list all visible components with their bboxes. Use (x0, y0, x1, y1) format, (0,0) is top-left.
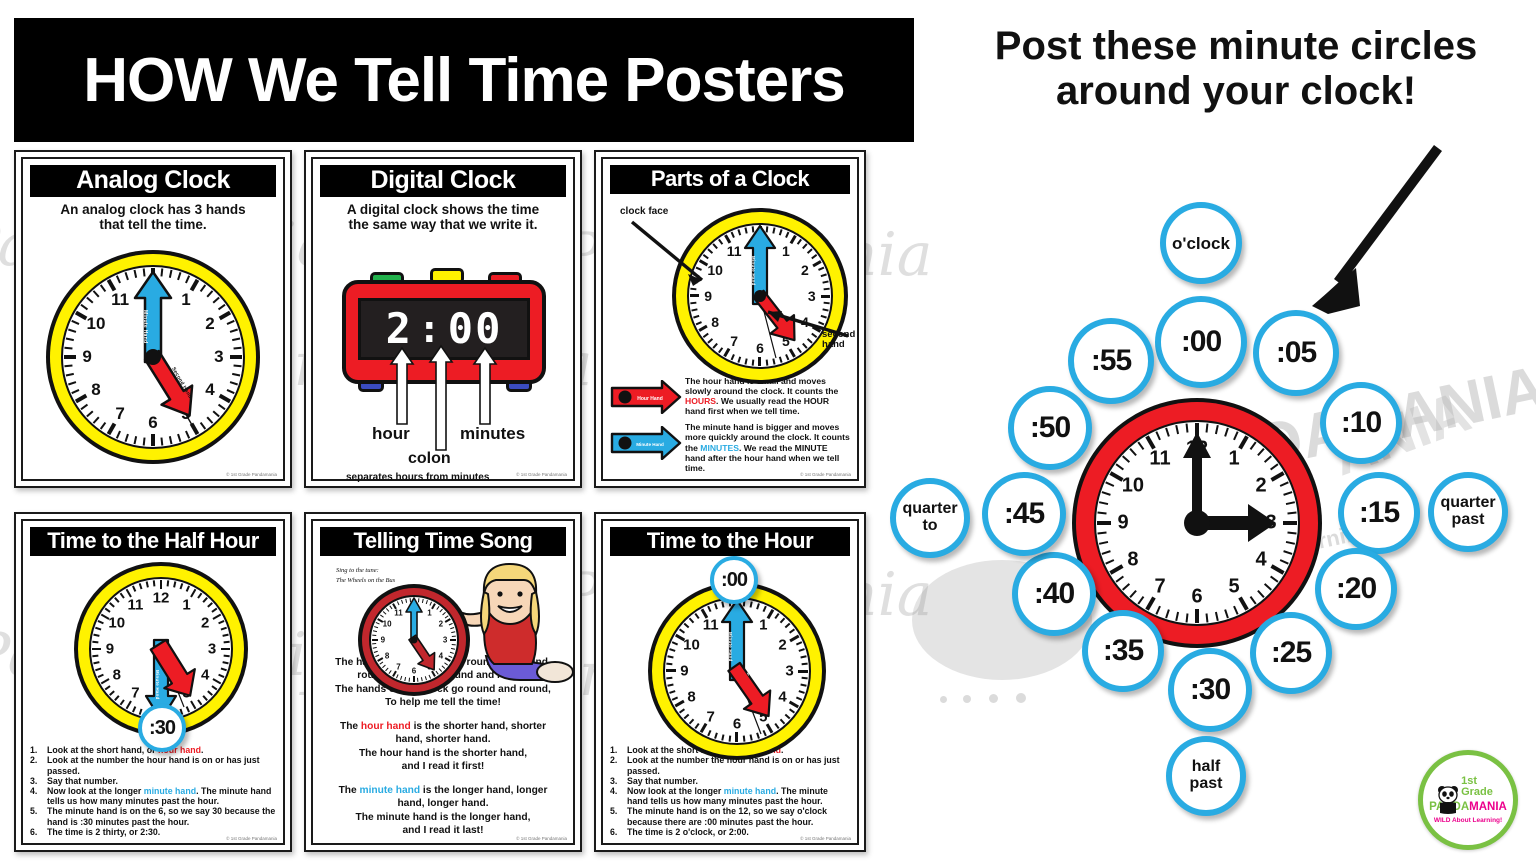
poster-time-to-the-half-hour[interactable]: Time to the Half Hour 121234567891011 (14, 512, 292, 852)
down-left-arrow-icon (1290, 130, 1460, 330)
minute-hand-label: Minute Hand (142, 310, 148, 343)
right-panel-heading: Post these minute circles around your cl… (946, 24, 1526, 114)
pointer-arrows (320, 232, 580, 452)
quarter-to-line2: to (922, 518, 937, 535)
poster-analog-clock[interactable]: Analog Clock An analog clock has 3 hands… (14, 150, 292, 488)
verse2-line4: and I read it first! (320, 760, 566, 773)
credit: © 1st Grade Pandamania (226, 472, 277, 477)
quarter-past-line1: quarter (1440, 495, 1495, 512)
minute-circle-05[interactable]: :05 (1253, 310, 1339, 396)
minute-circle-oclock[interactable]: o'clock (1160, 202, 1242, 284)
poster-subtitle: A digital clock shows the time the same … (320, 202, 566, 232)
step-number: 1. (30, 745, 42, 755)
step-text: Say that number. (627, 776, 698, 786)
subtitle-line2: that tell the time. (30, 217, 276, 232)
steps-list: 1.Look at the short hand, or hour hand.2… (30, 745, 276, 837)
analog-clock-face: 121234567891011 (46, 250, 260, 464)
step-highlight: minute hand (144, 786, 196, 796)
right-heading-line2: around your clock! (946, 69, 1526, 114)
label-minutes: minutes (460, 424, 525, 444)
credit: © 1st Grade Pandamania (800, 836, 851, 841)
poster-title: Time to the Half Hour (30, 527, 276, 556)
credit: © 1st Grade Pandamania (226, 836, 277, 841)
poster-title: Parts of a Clock (610, 165, 850, 194)
step-text: Now look at the longer minute hand. The … (627, 786, 850, 806)
poster-digital-clock[interactable]: Digital Clock A digital clock shows the … (304, 150, 582, 488)
minute-circle-00[interactable]: :00 (1155, 296, 1247, 388)
badge-hour: :00 (710, 556, 758, 604)
logo-line1b: Grade (1461, 786, 1493, 798)
poster-title: Telling Time Song (320, 527, 566, 556)
label-hour: hour (372, 424, 410, 444)
analog-clock-face: 121234567891011 Minute Hand Hour Hand (648, 582, 826, 760)
minute-circle-half-past[interactable]: half past (1166, 736, 1246, 816)
minute-circle-quarter-past[interactable]: quarter past (1428, 472, 1508, 552)
minute-circle-35[interactable]: :35 (1082, 610, 1164, 692)
minute-circle-45[interactable]: :45 (982, 472, 1066, 556)
panda-icon (1435, 785, 1461, 815)
hour-desc-highlight: HOURS (685, 396, 716, 406)
step-text: The time is 2 o'clock, or 2:00. (627, 827, 749, 837)
poster-time-to-the-hour[interactable]: Time to the Hour :00 121234567891011 (594, 512, 866, 852)
second-hand-label-line2: hand (822, 340, 855, 350)
step-item: 4.Now look at the longer minute hand. Th… (610, 786, 850, 806)
step-text: The time is 2 thirty, or 2:30. (47, 827, 160, 837)
verse3-line3: The minute hand is the longer hand, (320, 811, 566, 824)
minute-circle-15[interactable]: :15 (1338, 472, 1420, 554)
half-past-line2: past (1190, 776, 1223, 793)
minute-circle-40[interactable]: :40 (1012, 552, 1096, 636)
step-number: 1. (610, 745, 622, 755)
logo-tagline: WILD About Learning! (1434, 817, 1502, 824)
poster-subtitle: An analog clock has 3 hands that tell th… (30, 202, 276, 232)
quarter-past-line2: past (1452, 512, 1485, 529)
step-item: 5.The minute hand is on the 6, so we say… (30, 806, 276, 826)
minute-circle-20[interactable]: :20 (1315, 548, 1397, 630)
analog-clock-face: 121234567891011 (358, 584, 470, 696)
right-heading-line1: Post these minute circles (946, 24, 1526, 69)
verse3-post: is the longer hand, longer (420, 785, 547, 796)
verse3-line4: and I read it last! (320, 824, 566, 837)
step-text: The minute hand is on the 12, so we say … (627, 806, 850, 826)
step-item: 3.Say that number. (30, 776, 276, 786)
step-number: 6. (610, 827, 622, 837)
quarter-to-line1: quarter (902, 501, 957, 518)
demo-clock-face: 121234567891011 (1072, 398, 1322, 648)
verse2-post: is the shorter hand, shorter (411, 721, 546, 732)
hour-hand (648, 582, 826, 760)
clock-pivot (411, 637, 418, 644)
minute-circle-25[interactable]: :25 (1250, 612, 1332, 694)
label-clock-face: clock face (620, 206, 668, 217)
label-second-hand: second hand (822, 330, 855, 350)
svg-text:Hour Hand: Hour Hand (637, 396, 663, 402)
clock-pivot (145, 349, 161, 365)
logo-mania: MANIA (1469, 801, 1507, 813)
verse2-line2: hand, shorter hand. (320, 733, 566, 746)
minute-circle-quarter-to[interactable]: quarter to (890, 478, 970, 558)
minute-circle-55[interactable]: :55 (1068, 318, 1154, 404)
step-text: Look at the number the hour hand is on o… (47, 755, 276, 775)
minute-circle-30[interactable]: :30 (1168, 648, 1252, 732)
credit: © 1st Grade Pandamania (516, 472, 567, 477)
step-text: Now look at the longer minute hand. The … (47, 786, 276, 806)
clock-pivot (1184, 510, 1210, 536)
step-number: 3. (30, 776, 42, 786)
badge-half-hour: :30 (138, 704, 186, 752)
tune-note: Sing to the tune: The Wheels on the Bus (336, 566, 395, 586)
svg-text:Minute Hand: Minute Hand (636, 442, 664, 447)
poster-title: Digital Clock (320, 165, 566, 197)
step-text: Say that number. (47, 776, 118, 786)
verse3-pre: The (339, 785, 360, 796)
verse2-line3: The hour hand is the shorter hand, (320, 747, 566, 760)
page-title: HOW We Tell Time Posters (83, 45, 845, 116)
verse2-pre: The (340, 721, 361, 732)
step-number: 4. (30, 786, 42, 806)
subtitle-line2: the same way that we write it. (320, 217, 566, 232)
minute-hand-label: Minute Hand (155, 670, 160, 700)
step-number: 2. (610, 755, 622, 775)
minute-hand-description: The minute hand is bigger and moves more… (685, 422, 850, 473)
brand-logo: 1st Grade PANDAMANIA WILD About Learning… (1418, 750, 1518, 850)
verse1-line4: To help me tell the time! (320, 696, 566, 709)
minute-desc-highlight: MINUTES (700, 443, 739, 453)
annotation-lines (610, 194, 866, 390)
minute-hand-key-icon: Minute Hand (610, 426, 682, 460)
label-colon: colon (408, 450, 451, 468)
verse3-highlight: minute hand (360, 785, 421, 796)
verse3-line1: The minute hand is the longer hand, long… (320, 784, 566, 797)
poster-title: Time to the Hour (610, 527, 850, 556)
step-number: 3. (610, 776, 622, 786)
verse2-line1: The hour hand is the shorter hand, short… (320, 720, 566, 733)
minute-circle-50[interactable]: :50 (1008, 386, 1092, 470)
poster-parts-of-a-clock[interactable]: Parts of a Clock 121234567891011 (594, 150, 866, 488)
step-item: 2.Look at the number the hour hand is on… (30, 755, 276, 775)
watermark-dots (940, 690, 1060, 704)
tune-line1: Sing to the tune: (336, 566, 395, 576)
step-number: 5. (610, 806, 622, 826)
step-number: 2. (30, 755, 42, 775)
half-past-line1: half (1192, 759, 1220, 776)
minute-hand-label: Minute Hand (728, 632, 733, 662)
step-number: 6. (30, 827, 42, 837)
subtitle-line1: A digital clock shows the time (320, 202, 566, 217)
poster-telling-time-song[interactable]: Telling Time Song Sing to the tune: The … (304, 512, 582, 852)
step-number: 4. (610, 786, 622, 806)
colon-note: separates hours from minutes (346, 472, 489, 483)
credit: © 1st Grade Pandamania (516, 836, 567, 841)
poster-title: Analog Clock (30, 165, 276, 197)
minute-circle-10[interactable]: :10 (1320, 382, 1402, 464)
credit: © 1st Grade Pandamania (800, 472, 851, 477)
step-text: Look at the short hand, or hour hand. (47, 745, 203, 755)
step-item: 4.Now look at the longer minute hand. Th… (30, 786, 276, 806)
subtitle-line1: An analog clock has 3 hands (30, 202, 276, 217)
verse2-highlight: hour hand (361, 721, 411, 732)
step-item: 5.The minute hand is on the 12, so we sa… (610, 806, 850, 826)
page-title-banner: HOW We Tell Time Posters (14, 18, 914, 142)
verse3-line2: hand, longer hand. (320, 797, 566, 810)
step-item: 3.Say that number. (610, 776, 850, 786)
step-text: The minute hand is on the 6, so we say 3… (47, 806, 276, 826)
step-number: 5. (30, 806, 42, 826)
step-highlight: minute hand (724, 786, 776, 796)
logo-grade: 1st Grade (1461, 776, 1493, 798)
